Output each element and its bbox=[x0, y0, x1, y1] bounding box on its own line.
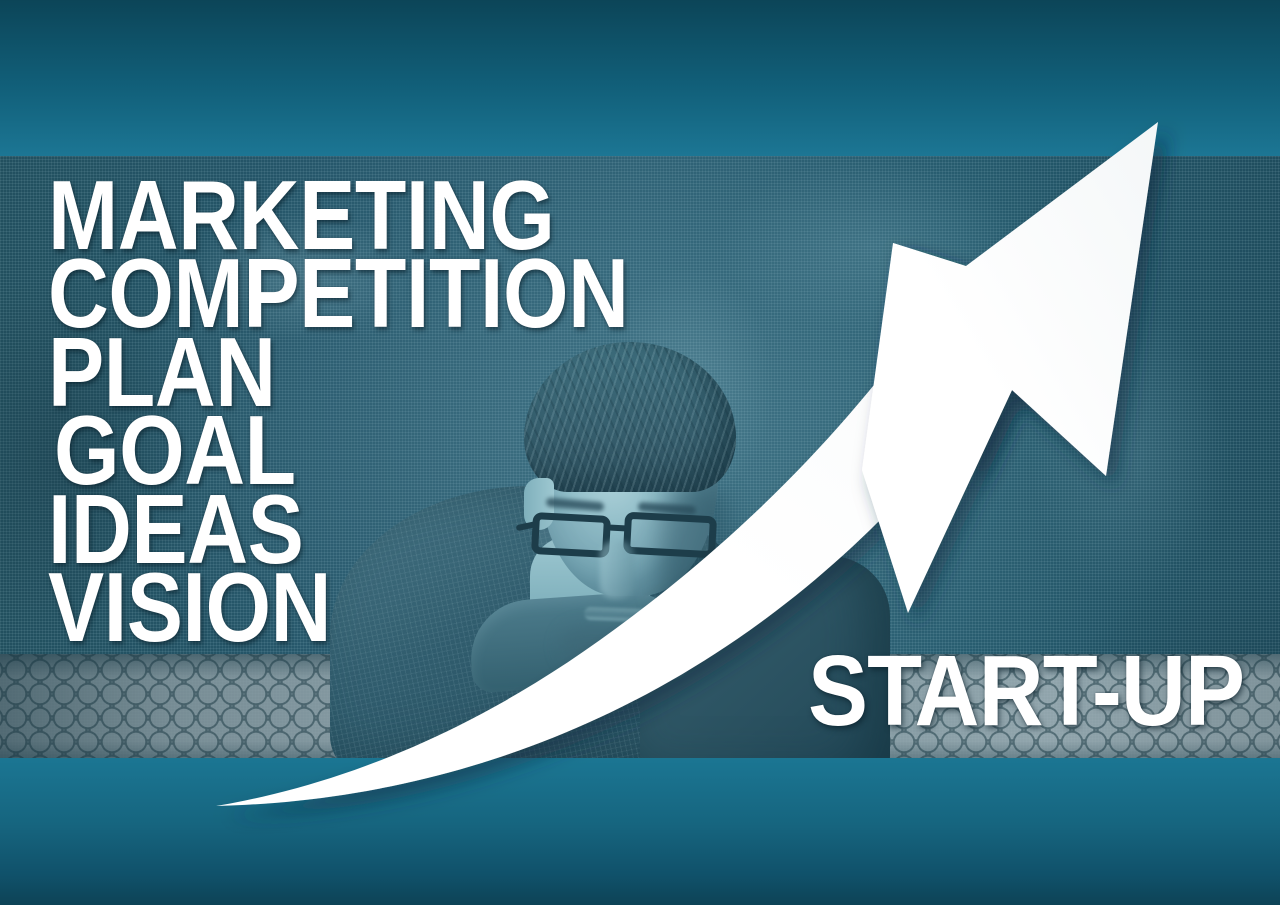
headline-startup: START-UP bbox=[808, 650, 1244, 732]
bottom-frame-band bbox=[0, 758, 1280, 905]
startup-banner: MARKETING COMPETITION PLAN GOAL IDEAS VI… bbox=[0, 0, 1280, 905]
keyword-vision: VISION bbox=[48, 568, 629, 646]
keyword-stack: MARKETING COMPETITION PLAN GOAL IDEAS VI… bbox=[48, 176, 723, 646]
top-frame-band bbox=[0, 0, 1280, 156]
